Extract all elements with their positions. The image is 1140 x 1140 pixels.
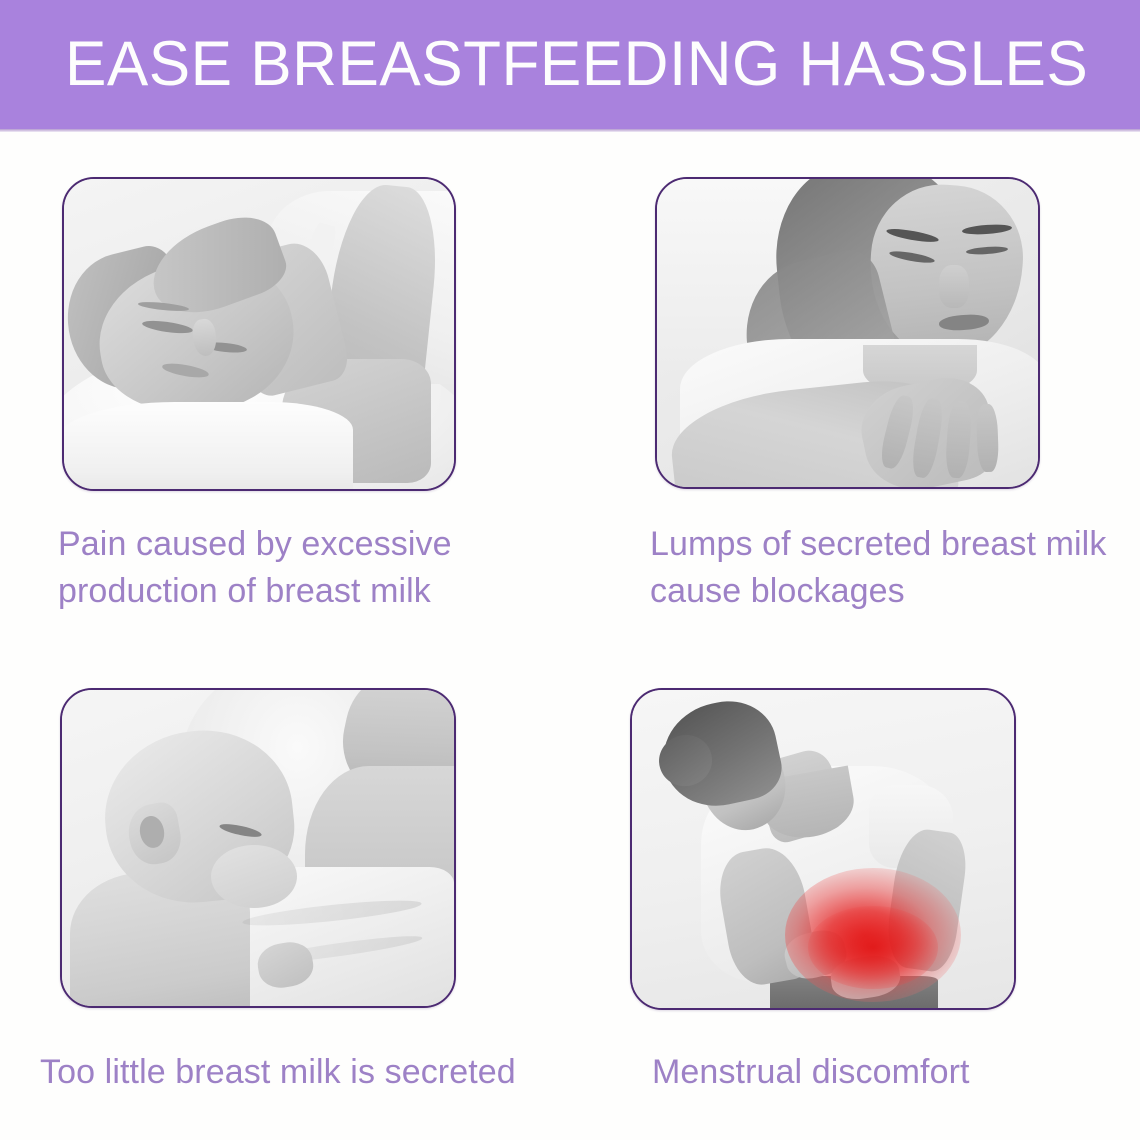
photo-woman-holding-chest <box>657 179 1038 487</box>
baby-cheek-shape <box>211 845 297 908</box>
bedsheet-shape <box>62 402 353 491</box>
feature-card-excessive-production <box>62 177 456 491</box>
caption-low-supply: Too little breast milk is secreted <box>40 1049 550 1096</box>
photo-frame-menstrual-discomfort <box>630 688 1016 1010</box>
photo-woman-lying-in-bed <box>64 179 454 489</box>
nose-shape <box>939 265 969 308</box>
photo-frame-excessive-production <box>62 177 456 491</box>
photo-frame-low-supply <box>60 688 456 1008</box>
photo-frame-blocked-ducts <box>655 177 1040 489</box>
feature-card-blocked-ducts <box>655 177 1040 489</box>
feature-card-low-supply <box>60 688 456 1008</box>
photo-baby-breastfeeding <box>62 690 454 1006</box>
caption-excessive-production: Pain caused by excessive production of b… <box>58 521 528 615</box>
feature-card-menstrual-discomfort <box>630 688 1016 1010</box>
caption-blocked-ducts: Lumps of secreted breast milk cause bloc… <box>650 521 1130 615</box>
grayscale-body-group <box>632 690 1014 1008</box>
page-header: EASE BREASTFEEDING HASSLES <box>0 0 1140 131</box>
page-title: EASE BREASTFEEDING HASSLES <box>0 33 1088 96</box>
caption-menstrual-discomfort: Menstrual discomfort <box>652 1049 1102 1096</box>
photo-woman-abdominal-pain <box>632 690 1014 1008</box>
feature-grid: Pain caused by excessive production of b… <box>0 131 1140 1140</box>
